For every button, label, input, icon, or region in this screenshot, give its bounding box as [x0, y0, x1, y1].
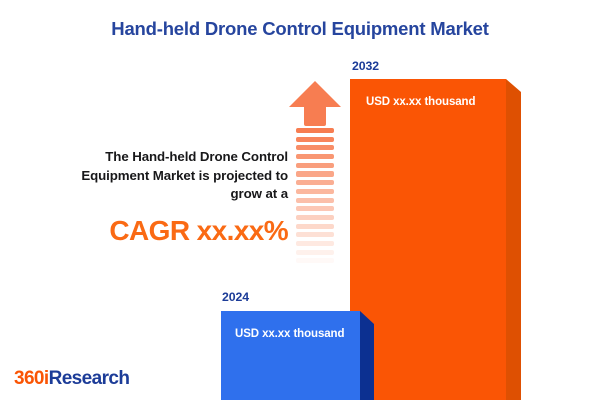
- arrow-stripe: [296, 206, 334, 211]
- arrow-stripe: [296, 241, 334, 246]
- bar-value-label-2024: USD xx.xx thousand: [235, 328, 344, 340]
- brand-logo: 360iResearch: [14, 368, 129, 390]
- bar-2024: [221, 311, 360, 400]
- arrow-stripe: [296, 224, 334, 229]
- up-arrow-head-icon: [288, 80, 342, 126]
- summary-line-3: grow at a: [44, 185, 288, 204]
- arrow-stripe: [296, 189, 334, 194]
- arrow-stripes: [296, 128, 334, 285]
- year-label-2032: 2032: [352, 59, 379, 73]
- arrow-stripe: [296, 171, 334, 176]
- arrow-stripe: [296, 154, 334, 159]
- infographic-canvas: Hand-held Drone Control Equipment Market…: [0, 0, 600, 400]
- bar-value-label-2032: USD xx.xx thousand: [366, 96, 475, 108]
- growth-arrow-icon: [288, 80, 342, 285]
- bar-2032-side-face: [506, 79, 521, 400]
- arrow-stripe: [296, 198, 334, 203]
- summary-line-1: The Hand-held Drone Control: [44, 148, 288, 167]
- arrow-stripe: [296, 276, 334, 281]
- summary-line-2: Equipment Market is projected to: [44, 167, 288, 186]
- arrow-stripe: [296, 145, 334, 150]
- arrow-stripe: [296, 137, 334, 142]
- arrow-stripe: [296, 163, 334, 168]
- bar-2024-front-face: [221, 311, 360, 400]
- summary-block: The Hand-held Drone Control Equipment Ma…: [44, 148, 288, 247]
- arrow-stripe: [296, 258, 334, 263]
- arrow-stripe: [296, 180, 334, 185]
- arrow-stripe: [296, 215, 334, 220]
- page-title: Hand-held Drone Control Equipment Market: [0, 18, 600, 40]
- bar-2024-side-face: [360, 311, 374, 400]
- cagr-value: CAGR xx.xx%: [44, 215, 288, 247]
- brand-logo-part-1: 360i: [14, 368, 49, 389]
- brand-logo-part-2: Research: [49, 368, 130, 389]
- arrow-stripe: [296, 128, 334, 133]
- arrow-stripe: [296, 267, 334, 272]
- arrow-stripe: [296, 250, 334, 255]
- arrow-stripe: [296, 232, 334, 237]
- year-label-2024: 2024: [222, 290, 249, 304]
